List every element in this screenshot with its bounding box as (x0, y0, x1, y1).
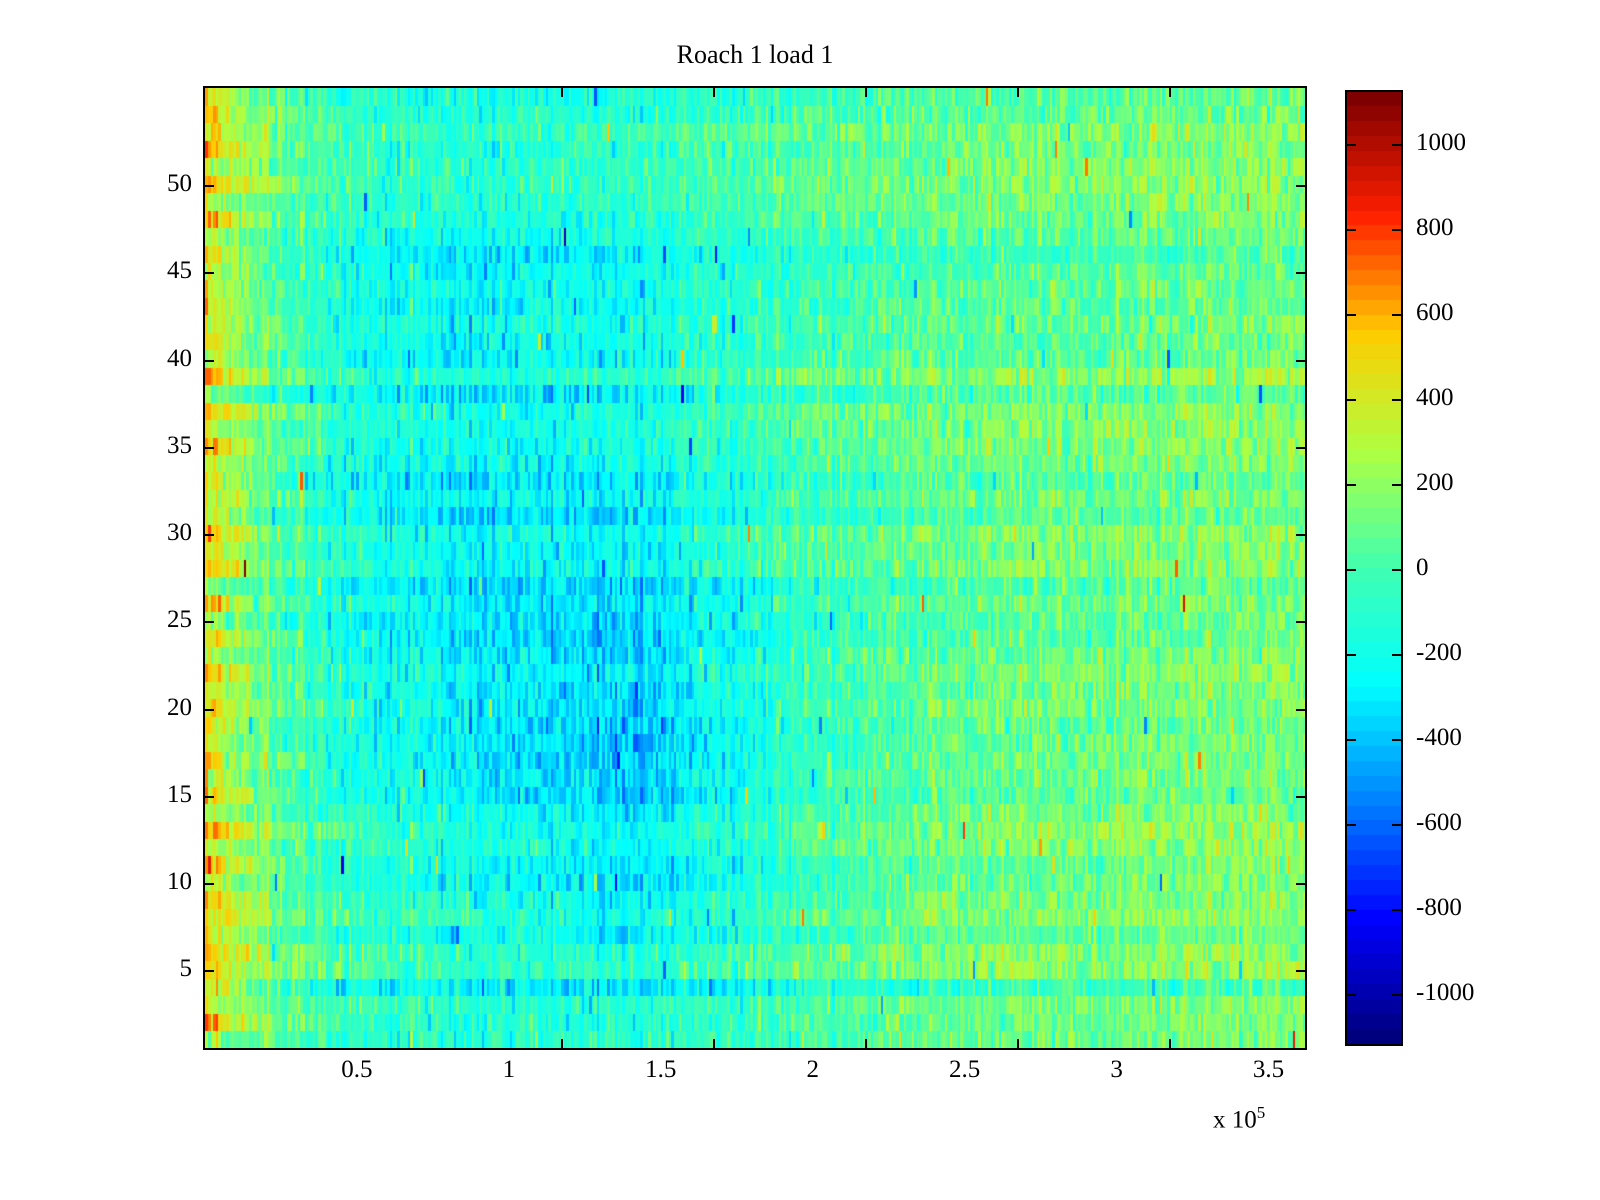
x-exponent-base: x 10 (1213, 1106, 1257, 1133)
colorbar-tick (1347, 994, 1356, 996)
y-axis-tick (205, 534, 214, 536)
x-tick-label: 2 (806, 1056, 819, 1084)
colorbar-gradient (1347, 92, 1401, 1044)
colorbar-tick (1392, 144, 1401, 146)
figure-root: Roach 1 load 1 0.511.522.533.5 510152025… (0, 0, 1600, 1200)
y-axis-tick (205, 883, 214, 885)
colorbar-tick-label: -1000 (1416, 979, 1474, 1007)
y-axis-tick (205, 272, 214, 274)
colorbar-tick (1392, 484, 1401, 486)
colorbar[interactable] (1345, 90, 1403, 1046)
colorbar-tick-label: 1000 (1416, 129, 1466, 157)
colorbar-tick-label: 600 (1416, 299, 1454, 327)
heatmap-image (205, 88, 1305, 1048)
y-axis-tick (1296, 534, 1305, 536)
colorbar-tick-label: -800 (1416, 894, 1462, 922)
colorbar-tick (1392, 909, 1401, 911)
colorbar-tick (1347, 569, 1356, 571)
colorbar-tick (1392, 569, 1401, 571)
colorbar-tick-label: -600 (1416, 809, 1462, 837)
y-axis-tick (1296, 796, 1305, 798)
x-axis-exponent-label: x 105 (1213, 1103, 1265, 1134)
y-axis-tick (205, 709, 214, 711)
y-axis-tick (1296, 621, 1305, 623)
y-axis-tick (205, 360, 214, 362)
y-axis-tick (1296, 185, 1305, 187)
y-tick-label: 35 (167, 432, 192, 460)
colorbar-tick (1392, 824, 1401, 826)
x-axis-tick (713, 1039, 715, 1048)
y-tick-label: 40 (167, 345, 192, 373)
y-tick-label: 30 (167, 519, 192, 547)
x-axis-tick (1017, 1039, 1019, 1048)
y-tick-label: 15 (167, 781, 192, 809)
colorbar-tick (1347, 654, 1356, 656)
y-axis-tick (205, 447, 214, 449)
x-axis-tick (865, 1039, 867, 1048)
y-tick-label: 20 (167, 694, 192, 722)
colorbar-tick (1347, 399, 1356, 401)
colorbar-tick (1347, 144, 1356, 146)
colorbar-tick (1392, 229, 1401, 231)
colorbar-tick (1347, 739, 1356, 741)
x-tick-label: 3 (1110, 1056, 1123, 1084)
x-axis-tick (865, 88, 867, 97)
x-axis-tick (561, 1039, 563, 1048)
colorbar-tick (1347, 909, 1356, 911)
colorbar-tick (1392, 994, 1401, 996)
colorbar-tick-label: -400 (1416, 724, 1462, 752)
y-axis-tick (1296, 447, 1305, 449)
colorbar-tick (1347, 314, 1356, 316)
y-axis-tick (1296, 272, 1305, 274)
y-axis-tick (1296, 970, 1305, 972)
colorbar-tick-label: 800 (1416, 214, 1454, 242)
colorbar-tick (1347, 824, 1356, 826)
colorbar-tick-label: 400 (1416, 384, 1454, 412)
y-axis-tick (205, 621, 214, 623)
x-tick-label: 1.5 (645, 1056, 676, 1084)
x-axis-tick (1169, 1039, 1171, 1048)
colorbar-tick (1347, 229, 1356, 231)
y-tick-label: 50 (167, 170, 192, 198)
x-axis-tick (713, 88, 715, 97)
colorbar-tick (1347, 484, 1356, 486)
colorbar-tick-label: 0 (1416, 554, 1429, 582)
page-title: Roach 1 load 1 (0, 40, 1510, 70)
y-axis-tick (205, 970, 214, 972)
colorbar-tick-label: -200 (1416, 639, 1462, 667)
y-axis-tick (205, 185, 214, 187)
heatmap-axes[interactable] (203, 86, 1307, 1050)
colorbar-tick (1392, 739, 1401, 741)
x-tick-label: 2.5 (949, 1056, 980, 1084)
x-axis-tick (1169, 88, 1171, 97)
x-tick-label: 1 (503, 1056, 516, 1084)
colorbar-tick (1392, 654, 1401, 656)
colorbar-tick (1392, 314, 1401, 316)
colorbar-tick (1392, 399, 1401, 401)
x-tick-label: 0.5 (341, 1056, 372, 1084)
y-axis-tick (1296, 883, 1305, 885)
y-tick-label: 10 (167, 868, 192, 896)
y-tick-label: 45 (167, 257, 192, 285)
x-axis-tick (1017, 88, 1019, 97)
y-axis-tick (1296, 709, 1305, 711)
y-tick-label: 5 (180, 955, 193, 983)
y-axis-tick (1296, 360, 1305, 362)
colorbar-tick-label: 200 (1416, 469, 1454, 497)
x-exponent-power: 5 (1257, 1103, 1266, 1122)
y-axis-tick (205, 796, 214, 798)
x-tick-label: 3.5 (1253, 1056, 1284, 1084)
x-axis-tick (561, 88, 563, 97)
y-tick-label: 25 (167, 606, 192, 634)
